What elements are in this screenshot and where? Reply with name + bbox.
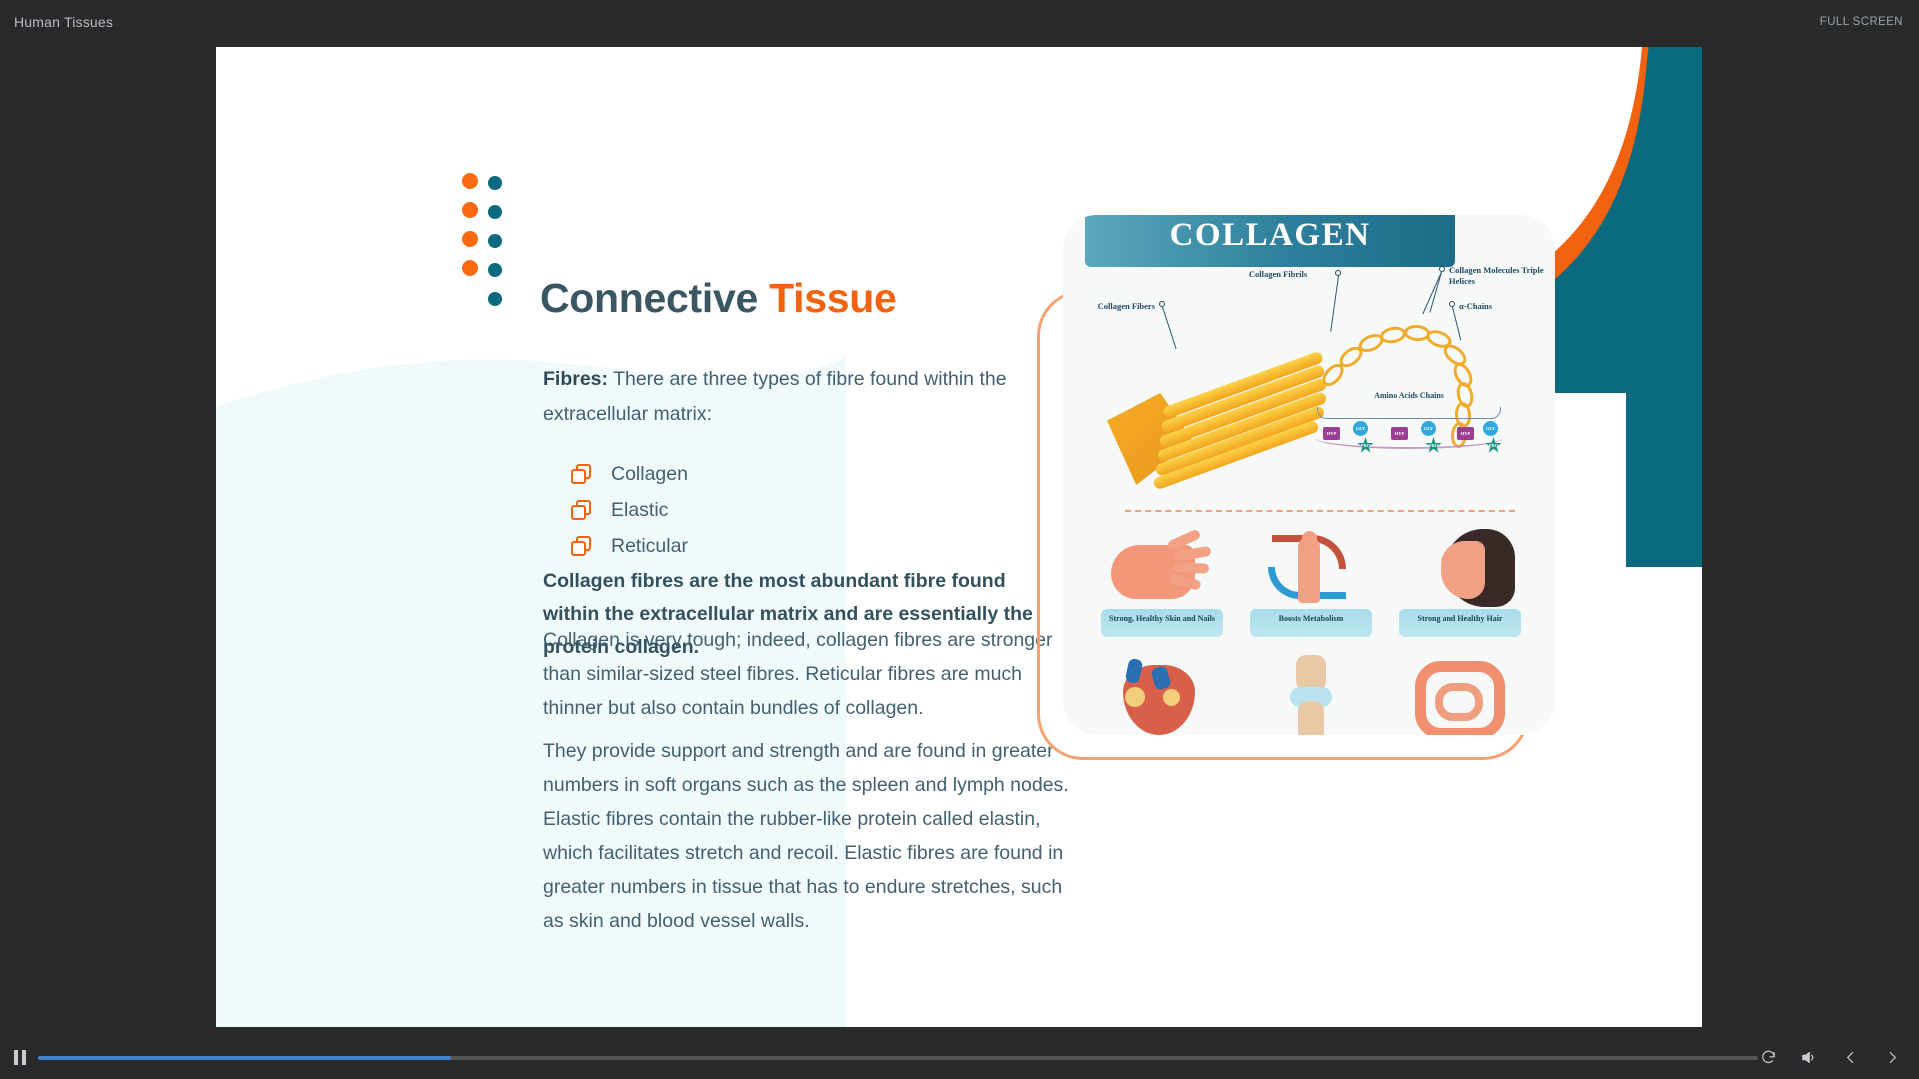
previous-icon[interactable]	[1839, 1046, 1861, 1068]
player-top-bar: Human Tissues FULL SCREEN	[0, 0, 1919, 46]
replay-icon[interactable]	[1757, 1046, 1779, 1068]
amino-hyp: HYP	[1323, 427, 1340, 440]
benefits-row: Strong, Healthy Skin and Nails Boosts Me…	[1101, 527, 1521, 637]
joint-icon	[1250, 657, 1372, 735]
presentation-player: Human Tissues FULL SCREEN Connective Tis…	[0, 0, 1919, 1079]
benefit-caption: Boosts Metabolism	[1250, 609, 1372, 637]
label-collagen-fibrils: Collagen Fibrils	[1223, 269, 1333, 280]
benefit-item: Supports and Improves	[1250, 657, 1372, 735]
list-item: Collagen	[571, 457, 688, 492]
label-collagen-molecules: Collagen Molecules Triple Helices	[1449, 265, 1553, 287]
slide-title-main: Connective	[540, 275, 769, 321]
list-item-label: Elastic	[611, 499, 668, 522]
list-item: Reticular	[571, 529, 688, 564]
fullscreen-button[interactable]: FULL SCREEN	[1820, 16, 1903, 28]
metabolism-icon	[1250, 527, 1372, 611]
hand-icon	[1101, 527, 1223, 611]
label-amino-acids: Amino Acids Chains	[1311, 391, 1507, 400]
dashed-divider	[1125, 510, 1515, 512]
copy-icon	[571, 536, 593, 558]
amino-hyp: HYP	[1457, 427, 1474, 440]
infographic-title: COLLAGEN	[1170, 217, 1371, 254]
intro-rest: There are three types of fibre found wit…	[543, 368, 1007, 425]
amino-gly: GLY	[1483, 421, 1498, 436]
amino-brace	[1317, 407, 1501, 419]
infographic-banner: COLLAGEN	[1085, 215, 1455, 267]
intro-paragraph: Fibres: There are three types of fibre f…	[543, 362, 1103, 432]
next-icon[interactable]	[1881, 1046, 1903, 1068]
paragraph-two: They provide support and strength and ar…	[543, 734, 1083, 938]
benefits-row: Supports and Improves	[1101, 657, 1521, 735]
intestine-icon	[1399, 657, 1521, 735]
list-item-label: Collagen	[611, 463, 688, 486]
collagen-fibril-art	[1107, 315, 1337, 485]
benefit-caption: Strong, Healthy Skin and Nails	[1101, 609, 1223, 637]
collagen-infographic: COLLAGEN Collagen Fibers Collagen Fibril…	[1063, 215, 1555, 735]
slide-title-accent: Tissue	[769, 275, 896, 321]
benefit-item: Strong and Healthy Hair	[1399, 527, 1521, 637]
player-control-bar	[0, 1035, 1919, 1079]
amino-gly: GLY	[1421, 421, 1436, 436]
label-collagen-fibers: Collagen Fibers	[1069, 301, 1155, 312]
pin-molecules	[1439, 266, 1445, 272]
benefit-item: Boosts Metabolism	[1250, 527, 1372, 637]
pause-button[interactable]	[14, 1050, 28, 1065]
amino-hyp: HYP	[1391, 427, 1408, 440]
intro-lead: Fibres:	[543, 368, 608, 390]
hair-icon	[1399, 527, 1521, 611]
benefit-item	[1399, 657, 1521, 735]
benefits-grid: Strong, Healthy Skin and Nails Boosts Me…	[1101, 527, 1521, 735]
copy-icon	[571, 464, 593, 486]
fibre-type-list: Collagen Elastic Reticular	[571, 457, 688, 565]
benefit-item: Strong, Healthy Skin and Nails	[1101, 527, 1223, 637]
amino-wave	[1315, 427, 1503, 449]
copy-icon	[571, 500, 593, 522]
paragraph-one: Collagen is very tough; indeed, collagen…	[543, 623, 1053, 725]
presentation-title: Human Tissues	[14, 14, 113, 30]
progress-fill	[38, 1056, 451, 1060]
list-item: Elastic	[571, 493, 688, 528]
progress-bar[interactable]	[38, 1056, 1758, 1060]
benefit-item	[1101, 657, 1223, 735]
decorative-dots	[462, 173, 522, 303]
benefit-caption: Strong and Healthy Hair	[1399, 609, 1521, 637]
list-item-label: Reticular	[611, 535, 688, 558]
heart-icon	[1101, 657, 1223, 735]
volume-icon[interactable]	[1797, 1046, 1819, 1068]
slide-title: Connective Tissue	[540, 275, 896, 322]
amino-gly: GLY	[1353, 421, 1368, 436]
amino-acid-chain: Amino Acids Chains HYP GLY PRO HYP GLY P…	[1311, 387, 1507, 453]
